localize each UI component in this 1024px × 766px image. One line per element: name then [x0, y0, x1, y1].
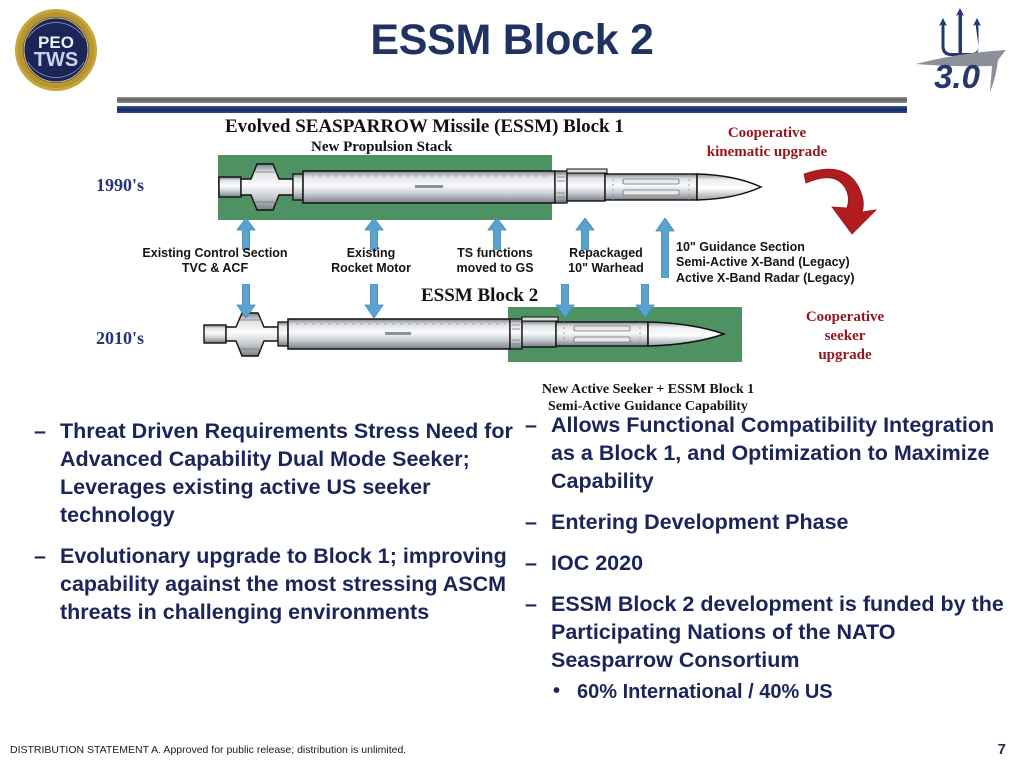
- bullet-text: Entering Development Phase: [551, 510, 849, 534]
- bullet-item: – Entering Development Phase: [525, 509, 1020, 537]
- red-curved-arrow-icon: [800, 160, 890, 240]
- bullet-text: IOC 2020: [551, 551, 643, 575]
- callout-warhead: Repackaged 10" Warhead: [542, 246, 670, 277]
- missile-illustration-block1: [215, 152, 815, 227]
- callout-ts-functions: TS functions moved to GS: [436, 246, 554, 277]
- bullet-dash: –: [525, 412, 537, 440]
- bullet-column-right: – Allows Functional Compatibility Integr…: [525, 412, 1020, 705]
- bullet-item: – IOC 2020: [525, 550, 1020, 578]
- arrow-down-guidance-section: [635, 284, 655, 323]
- arrow-down-warhead: [555, 284, 575, 323]
- bullet-dash: –: [525, 509, 537, 537]
- note-cooperative-kinematic-upgrade: Cooperative kinematic upgrade: [672, 124, 862, 162]
- bullet-column-left: – Threat Driven Requirements Stress Need…: [34, 418, 514, 640]
- note-cooperative-seeker-upgrade: Cooperative seeker upgrade: [785, 308, 905, 366]
- callout-guidance-section: 10" Guidance Section Semi-Active X-Band …: [676, 240, 894, 286]
- callout-control-section: Existing Control Section TVC & ACF: [131, 246, 299, 277]
- sub-bullet-item: • 60% International / 40% US: [525, 679, 1020, 705]
- bullet-text: Threat Driven Requirements Stress Need f…: [60, 419, 513, 527]
- sub-bullet-text: 60% International / 40% US: [577, 681, 833, 703]
- sub-bullet-dot: •: [553, 678, 560, 704]
- callout-new-active-seeker: New Active Seeker + ESSM Block 1 Semi-Ac…: [523, 381, 773, 415]
- arrow-down-rocket-motor: [364, 284, 384, 323]
- missile-illustration-block2: [200, 305, 790, 372]
- bullet-dash: –: [525, 591, 537, 619]
- bullet-item: – Evolutionary upgrade to Block 1; impro…: [34, 543, 514, 627]
- bullet-dash: –: [34, 543, 46, 571]
- bullet-item: – Threat Driven Requirements Stress Need…: [34, 418, 514, 530]
- callout-rocket-motor: Existing Rocket Motor: [312, 246, 430, 277]
- diagram-header-block1: Evolved SEASPARROW Missile (ESSM) Block …: [225, 116, 624, 138]
- bullet-text: Allows Functional Compatibility Integrat…: [551, 413, 994, 493]
- missile-comparison-diagram: Evolved SEASPARROW Missile (ESSM) Block …: [0, 0, 1024, 415]
- bullet-dash: –: [34, 418, 46, 446]
- slide-canvas: PEO TWS ESSM Block 2 3.0: [0, 0, 1024, 766]
- page-number: 7: [998, 741, 1006, 758]
- decade-label-1990s: 1990's: [96, 175, 144, 196]
- decade-label-2010s: 2010's: [96, 328, 144, 349]
- distribution-statement: DISTRIBUTION STATEMENT A. Approved for p…: [10, 744, 406, 756]
- diagram-header-block2: ESSM Block 2: [421, 285, 538, 307]
- arrow-down-control-section: [236, 284, 256, 323]
- bullet-item: – Allows Functional Compatibility Integr…: [525, 412, 1020, 496]
- bullet-text: ESSM Block 2 development is funded by th…: [551, 592, 1004, 672]
- bullet-dash: –: [525, 550, 537, 578]
- bullet-text: Evolutionary upgrade to Block 1; improvi…: [60, 544, 507, 624]
- bullet-item: – ESSM Block 2 development is funded by …: [525, 591, 1020, 675]
